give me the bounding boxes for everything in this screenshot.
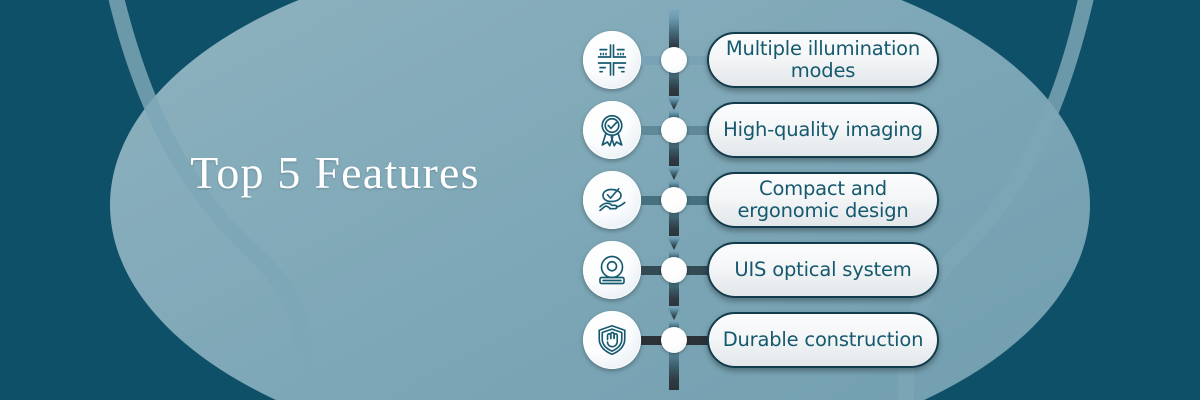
list-item: Compact and ergonomic design — [575, 168, 1200, 232]
feature-label: Multiple illumination modes — [709, 38, 937, 82]
optical-lens-icon — [583, 241, 641, 299]
page-title: Top 5 Features — [120, 148, 550, 199]
list-item: Durable construction — [575, 308, 1200, 372]
list-item: UIS optical system — [575, 238, 1200, 302]
features-list: Multiple illumination modes — [575, 0, 1200, 400]
feature-label: Compact and ergonomic design — [709, 178, 937, 222]
node-dot — [661, 47, 687, 73]
node-dot — [661, 187, 687, 213]
feature-pill[interactable]: Compact and ergonomic design — [707, 172, 939, 228]
page-title-text: Top 5 Features — [120, 148, 550, 199]
feature-label: High-quality imaging — [713, 119, 933, 141]
list-item: Multiple illumination modes — [575, 28, 1200, 92]
feature-pill[interactable]: High-quality imaging — [707, 102, 939, 158]
feature-pill[interactable]: Multiple illumination modes — [707, 32, 939, 88]
node-dot — [661, 327, 687, 353]
list-item: High-quality imaging — [575, 98, 1200, 162]
feature-pill[interactable]: Durable construction — [707, 312, 939, 368]
feature-label: Durable construction — [713, 329, 934, 351]
node-dot — [661, 257, 687, 283]
infographic-canvas: Top 5 Features — [0, 0, 1200, 400]
shield-fist-icon — [583, 311, 641, 369]
feature-pill[interactable]: UIS optical system — [707, 242, 939, 298]
node-dot — [661, 117, 687, 143]
award-ribbon-check-icon — [583, 101, 641, 159]
hand-holding-check-icon — [583, 171, 641, 229]
illumination-modes-icon — [583, 31, 641, 89]
feature-label: UIS optical system — [724, 259, 921, 281]
